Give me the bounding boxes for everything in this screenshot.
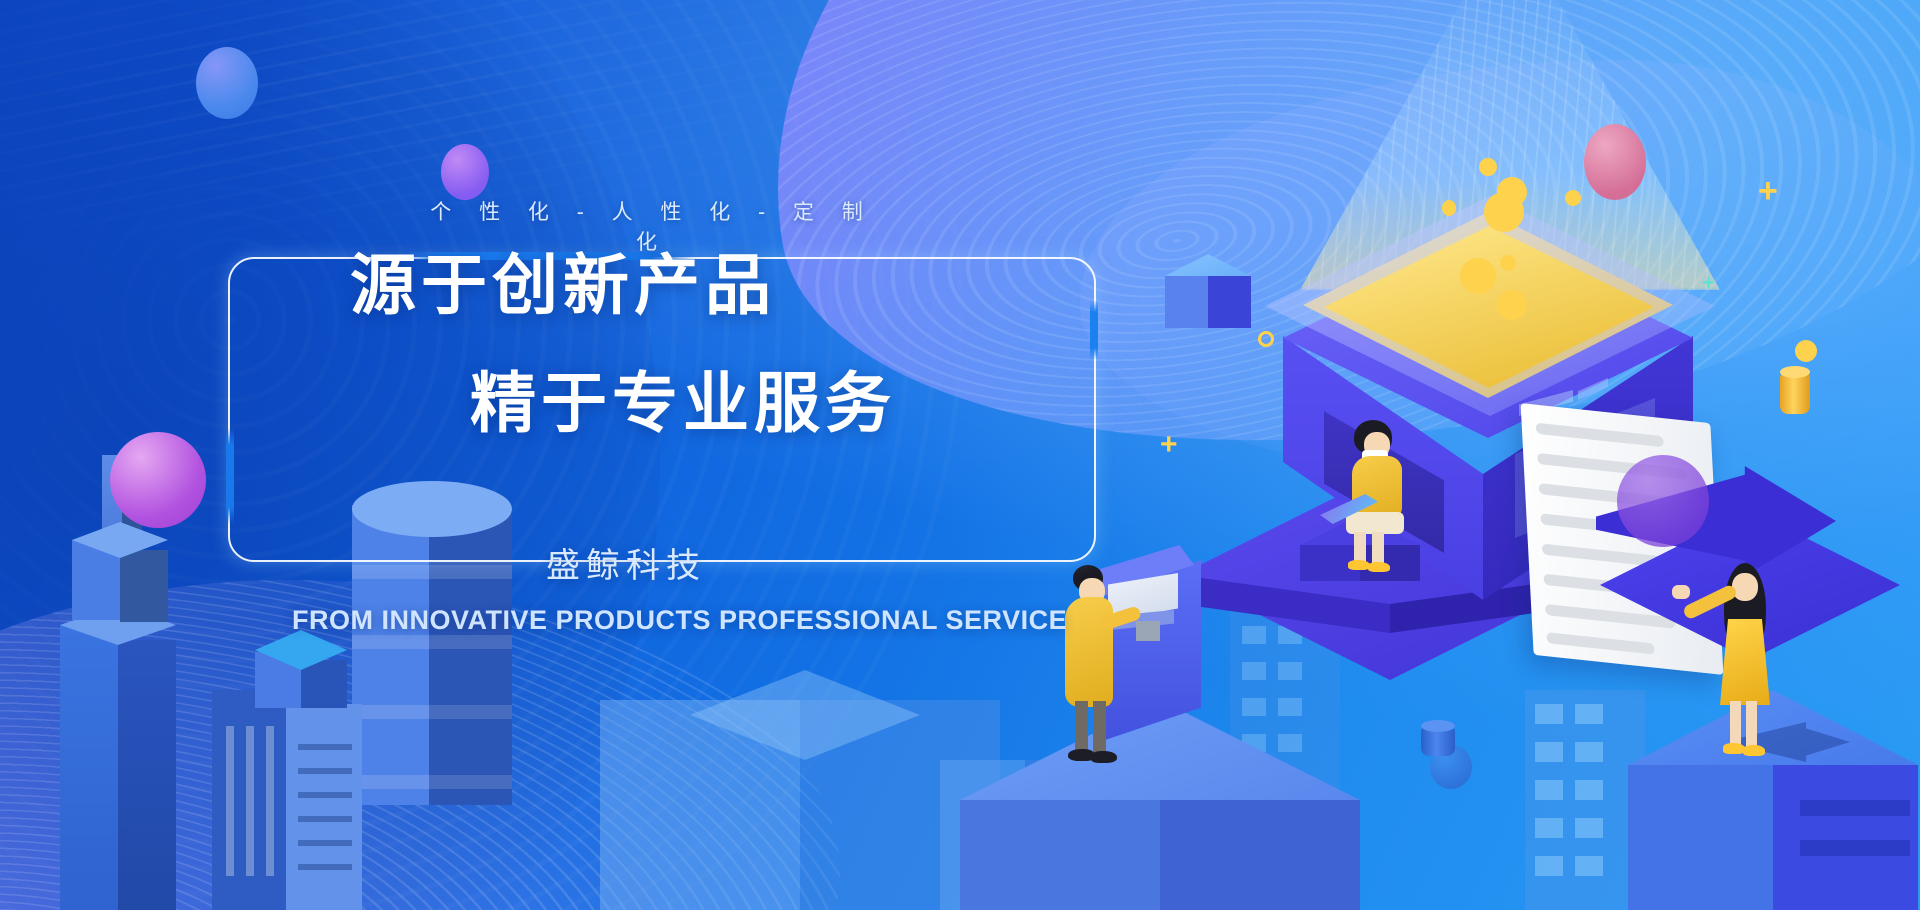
woman-laptop-head bbox=[1364, 432, 1390, 458]
building-mid-block bbox=[72, 530, 172, 620]
building-block-center bbox=[600, 700, 1020, 910]
man-shoe-left bbox=[1068, 749, 1094, 761]
person-woman-yellow-dress bbox=[1710, 563, 1800, 743]
light-beam bbox=[1300, 0, 1720, 290]
sphere-magenta-left bbox=[110, 432, 206, 528]
sphere-violet-right bbox=[1617, 455, 1709, 547]
building-block-center-b bbox=[940, 760, 1110, 910]
arrow-shape bbox=[1596, 466, 1836, 576]
woman-dress-head bbox=[1732, 573, 1758, 601]
kiosk-platform-right bbox=[1160, 800, 1360, 910]
stand-cube-stripe-2 bbox=[1800, 840, 1910, 856]
woman-dress-leg-right bbox=[1746, 701, 1757, 747]
machine-indicator-1 bbox=[1519, 390, 1573, 416]
stand-cube-left bbox=[1628, 765, 1773, 910]
building-cap-left bbox=[255, 638, 349, 708]
yellow-dot-1 bbox=[1479, 158, 1497, 176]
english-subtitle-text: FROM INNOVATIVE PRODUCTS PROFESSIONAL SE… bbox=[292, 605, 1052, 636]
building-windowed-left bbox=[212, 690, 362, 910]
man-coat bbox=[1065, 597, 1113, 707]
woman-dress-shoe-right bbox=[1743, 745, 1765, 756]
plus-icon-left: + bbox=[1160, 430, 1178, 460]
brand-name-text: 盛鲸科技 bbox=[546, 538, 846, 587]
person-man-at-kiosk bbox=[1063, 565, 1133, 765]
headline-line-1: 源于创新产品 bbox=[350, 232, 910, 328]
man-shoe-right bbox=[1091, 751, 1117, 763]
woman-laptop-skirt bbox=[1346, 512, 1404, 534]
kiosk-screen bbox=[1108, 573, 1178, 621]
yellow-dot-8 bbox=[1497, 290, 1527, 320]
yellow-dot-3 bbox=[1442, 200, 1456, 216]
machine-indicator-2 bbox=[1578, 378, 1608, 400]
person-woman-with-laptop bbox=[1346, 420, 1426, 570]
woman-laptop-collar bbox=[1362, 450, 1388, 462]
glow-panel-halo bbox=[1265, 196, 1715, 416]
building-antenna-mast bbox=[96, 455, 146, 605]
sphere-blue-top-left bbox=[196, 47, 258, 119]
woman-laptop-sweater bbox=[1352, 456, 1402, 518]
stand-cube-stripe-1 bbox=[1800, 800, 1910, 816]
frame-right-gap bbox=[1090, 300, 1098, 360]
building-windowed-right bbox=[1525, 690, 1645, 910]
laptop-seat-left bbox=[1300, 545, 1360, 581]
machine-recess-left bbox=[1324, 388, 1444, 553]
floating-cube-left bbox=[1165, 276, 1208, 328]
frame-left-gap bbox=[226, 428, 234, 524]
sphere-pink-top-right bbox=[1584, 124, 1646, 200]
kiosk-slot bbox=[1136, 621, 1160, 641]
printed-paper-scroll bbox=[1521, 403, 1724, 675]
hero-banner: + + + 个 性 化 - 人 性 化 - 定 制 化 源于创新产品 精于专业服… bbox=[0, 0, 1920, 910]
woman-laptop-leg-right bbox=[1372, 532, 1384, 564]
headline-line-2: 精于专业服务 bbox=[470, 350, 1030, 446]
man-leg-right bbox=[1093, 701, 1106, 753]
plus-icon-top-right: + bbox=[1758, 174, 1778, 208]
building-tower-left bbox=[60, 585, 180, 910]
kiosk-body bbox=[1105, 560, 1201, 740]
kiosk-platform-top bbox=[960, 700, 1360, 900]
machine-top-face bbox=[1283, 238, 1693, 438]
woman-laptop-shoe-right bbox=[1368, 562, 1390, 572]
machine-right-face bbox=[1483, 300, 1693, 600]
man-leg-left bbox=[1075, 701, 1088, 753]
yellow-dot-6 bbox=[1460, 258, 1496, 294]
man-hair bbox=[1073, 565, 1103, 591]
arrow-shadow bbox=[1740, 722, 1850, 762]
platform-left-side bbox=[1180, 575, 1390, 633]
laptop-seat-top bbox=[1300, 515, 1420, 575]
woman-laptop-shoe-left bbox=[1348, 560, 1370, 570]
stand-cube-top bbox=[1628, 690, 1918, 840]
yellow-dot-2 bbox=[1497, 177, 1527, 207]
yellow-dot-4 bbox=[1484, 192, 1524, 232]
gold-cylinder bbox=[1780, 372, 1810, 414]
man-arm bbox=[1100, 605, 1142, 631]
man-head bbox=[1079, 578, 1105, 604]
woman-dress-hand bbox=[1672, 585, 1690, 599]
woman-dress-leg-left bbox=[1730, 701, 1741, 747]
glow-panel-gold bbox=[1303, 212, 1673, 398]
platform-top bbox=[1180, 470, 1600, 680]
floating-cube-top bbox=[1165, 254, 1251, 298]
laptop-device bbox=[1320, 494, 1378, 524]
woman-dress-arm-raised bbox=[1682, 583, 1738, 620]
light-beam-texture bbox=[1300, 0, 1720, 290]
stand-cube-right bbox=[1773, 765, 1918, 910]
woman-laptop-hair bbox=[1354, 420, 1392, 454]
blue-cylinder bbox=[1421, 726, 1455, 756]
yellow-dot-5 bbox=[1565, 190, 1581, 206]
floating-cube-right bbox=[1208, 276, 1251, 328]
arrow-platform-top bbox=[1600, 510, 1900, 660]
laptop-seat-right bbox=[1360, 545, 1420, 581]
woman-dress-hair bbox=[1724, 563, 1766, 655]
machine-left-face bbox=[1283, 300, 1483, 600]
secondary-blue-ribbon bbox=[1080, 60, 1920, 480]
woman-dress-skirt bbox=[1720, 619, 1770, 705]
sphere-blue-right bbox=[1430, 745, 1472, 789]
sphere-purple-small bbox=[441, 144, 489, 200]
building-windowed-mid-right bbox=[1230, 610, 1340, 910]
yellow-dot-7 bbox=[1500, 255, 1516, 271]
woman-dress-shoe-left bbox=[1723, 743, 1745, 754]
kiosk-keypad bbox=[1110, 610, 1174, 630]
kiosk-hood bbox=[1090, 545, 1194, 635]
plus-icon-cyan: + bbox=[1702, 272, 1715, 294]
yellow-ring-icon bbox=[1258, 331, 1274, 347]
yellow-dot-9 bbox=[1795, 340, 1817, 362]
kiosk-platform-left bbox=[960, 800, 1160, 910]
platform-right-side bbox=[1390, 575, 1600, 633]
machine-panel-right bbox=[1515, 398, 1655, 538]
glow-panel-core bbox=[1324, 226, 1654, 388]
woman-laptop-leg-left bbox=[1354, 532, 1366, 564]
